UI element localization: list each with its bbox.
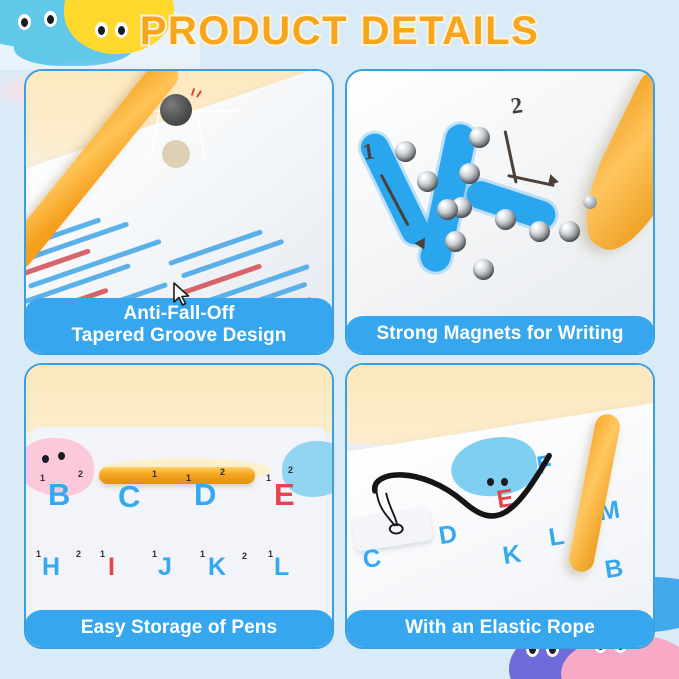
board-letter-e: E bbox=[274, 477, 294, 513]
panel-strong-magnets-photo: 1 2 bbox=[347, 71, 653, 353]
steel-bead bbox=[160, 94, 192, 126]
board-letter-h: H bbox=[42, 553, 59, 582]
magnet-bead bbox=[445, 231, 466, 252]
caption-line-2: Tapered Groove Design bbox=[28, 325, 330, 346]
magnet-bead bbox=[559, 221, 580, 242]
caption-line-1: With an Elastic Rope bbox=[349, 617, 651, 638]
board-letter-i: I bbox=[108, 553, 114, 582]
magnet-bead bbox=[495, 209, 516, 230]
panel-elastic-rope[interactable]: C D E F K L M B With an Elastic Rope bbox=[345, 363, 655, 649]
board-letter-l: L bbox=[274, 553, 288, 582]
panel-easy-storage-caption: Easy Storage of Pens bbox=[24, 610, 334, 649]
cream-backdrop bbox=[26, 365, 332, 433]
panel-anti-fall-off[interactable]: Anti-Fall-Off Tapered Groove Design bbox=[24, 69, 334, 355]
page-title: PRODUCT DETAILS bbox=[0, 9, 679, 54]
product-details-grid: Anti-Fall-Off Tapered Groove Design 1 bbox=[24, 69, 655, 649]
caption-line-1: Easy Storage of Pens bbox=[28, 617, 330, 638]
board-letter-d: D bbox=[194, 477, 215, 513]
board-letter-b: B bbox=[48, 477, 69, 513]
magnet-bead bbox=[473, 259, 494, 280]
steel-bead-shadow bbox=[162, 140, 190, 168]
panel-easy-storage[interactable]: B 1 2 C 1 D 1 2 E 1 2 H 1 2 I 1 J 1 K 1 … bbox=[24, 363, 334, 649]
magnet-bead bbox=[529, 221, 550, 242]
board-letter-k: K bbox=[208, 553, 225, 582]
panel-strong-magnets[interactable]: 1 2 Strong Magnets for Writing bbox=[345, 69, 655, 355]
panel-elastic-rope-caption: With an Elastic Rope bbox=[345, 610, 655, 649]
panel-strong-magnets-caption: Strong Magnets for Writing bbox=[345, 316, 655, 355]
panel-elastic-rope-photo: C D E F K L M B bbox=[347, 365, 653, 647]
panel-easy-storage-photo: B 1 2 C 1 D 1 2 E 1 2 H 1 2 I 1 J 1 K 1 … bbox=[26, 365, 332, 647]
pen-tip-bead bbox=[583, 195, 597, 209]
board-letter-j: J bbox=[158, 553, 171, 582]
magnet-bead bbox=[417, 171, 438, 192]
magnet-bead bbox=[459, 163, 480, 184]
magnet-bead bbox=[395, 141, 416, 162]
magnet-bead bbox=[437, 199, 458, 220]
caption-line-1: Strong Magnets for Writing bbox=[349, 323, 651, 344]
whale-eye-left bbox=[487, 478, 494, 486]
mouse-cursor bbox=[172, 282, 192, 308]
magnet-bead bbox=[469, 127, 490, 148]
board-letter-c: C bbox=[118, 479, 139, 515]
